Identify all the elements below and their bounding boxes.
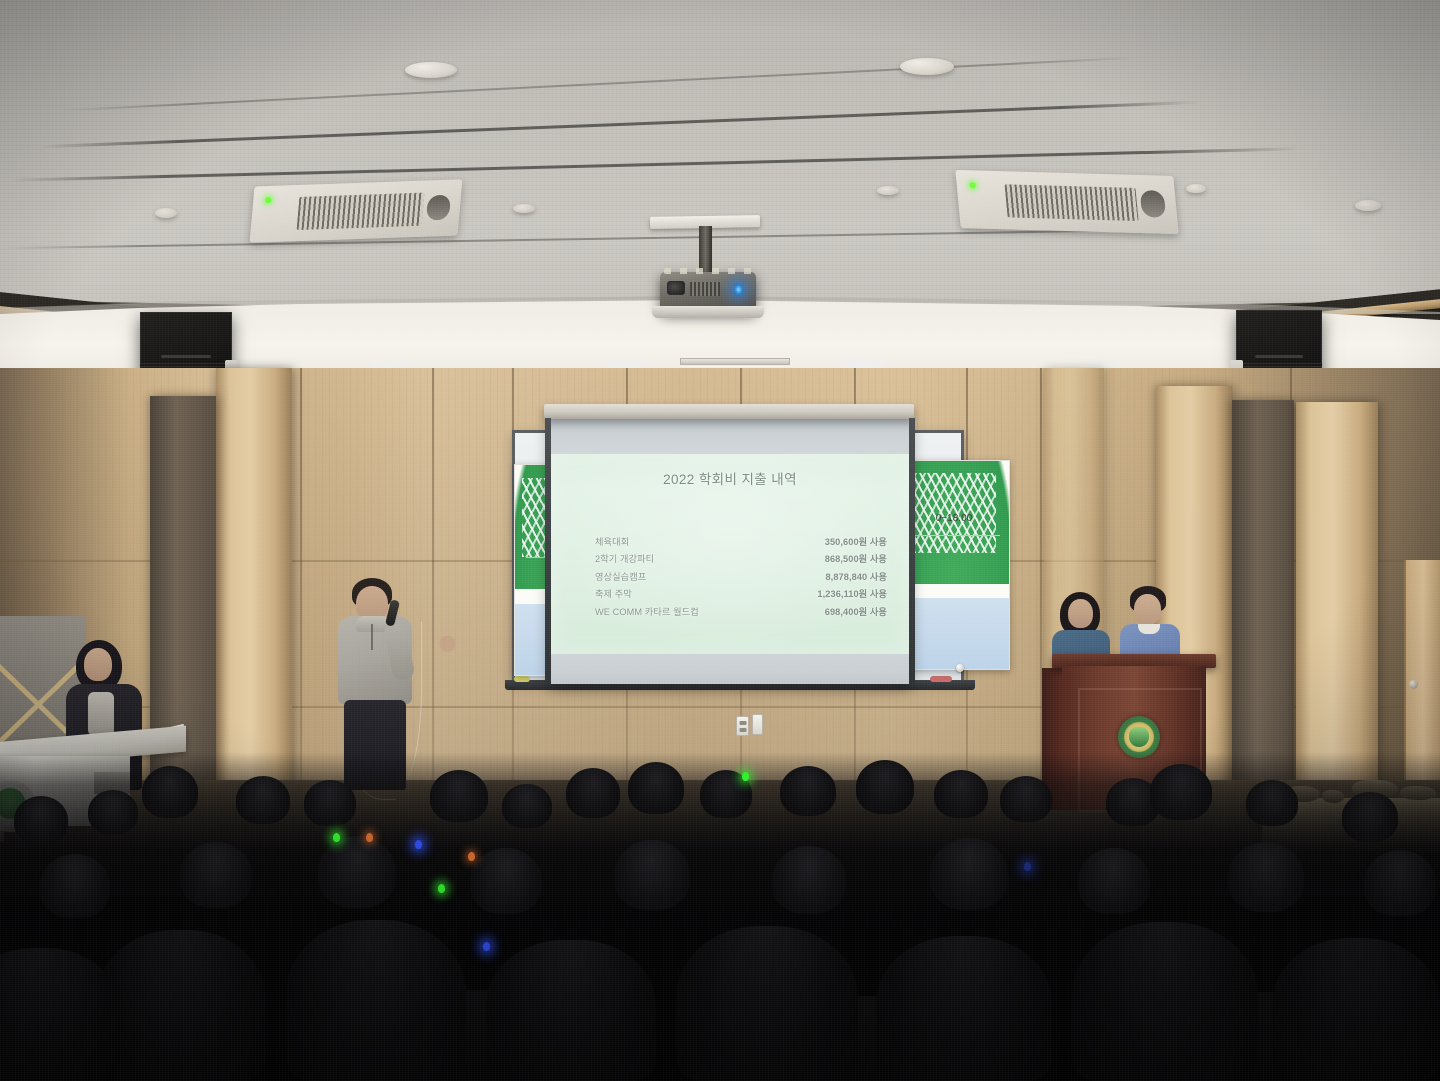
- audience-silhouette: [486, 940, 656, 1081]
- seat-indicator-led: [438, 884, 445, 893]
- smoke-detector-icon: [877, 186, 899, 195]
- ceiling-speaker-icon: [900, 58, 954, 75]
- ceiling-vent-upper: [680, 358, 790, 365]
- slide-row: 체육대회 350,600원 사용: [595, 538, 887, 547]
- seat-indicator-led: [742, 772, 749, 781]
- smoke-detector-icon: [513, 204, 535, 213]
- whiteboard-marker[interactable]: [930, 676, 952, 682]
- ac-vane: [1140, 190, 1166, 217]
- slide-row: 영상실습캠프 8,878,840 사용: [595, 573, 887, 582]
- slide-title: 2022 학회비 지출 내역: [549, 468, 911, 488]
- smoke-detector-icon: [155, 208, 177, 218]
- audience-silhouette: [1272, 938, 1440, 1081]
- presenter-zipper: [371, 624, 373, 650]
- wall-outlet[interactable]: [736, 716, 749, 736]
- projected-slide: 2022 학회비 지출 내역 체육대회 350,600원 사용 2학기 개강파티…: [549, 454, 911, 654]
- projector-vent-icon: [690, 282, 720, 296]
- screen-edge-right: [909, 418, 915, 684]
- outlet-socket-icon: [739, 721, 746, 725]
- expense-label: 영상실습캠프: [595, 573, 646, 582]
- operator-head: [84, 648, 112, 681]
- audience-head: [614, 840, 690, 910]
- poster-footer-band: [899, 598, 1009, 669]
- speaker-cabinet: [1236, 310, 1322, 364]
- audience-head: [772, 846, 846, 914]
- speaker-head: [1134, 594, 1161, 625]
- screen-blank-top: [549, 418, 911, 454]
- audience-head: [40, 854, 110, 918]
- wall-pilaster: [1296, 402, 1378, 808]
- slide-row: 2학기 개강파티 868,500원 사용: [595, 555, 887, 564]
- expense-label: 체육대회: [595, 538, 629, 547]
- audience-head: [780, 766, 836, 816]
- slide-expense-table: 체육대회 350,600원 사용 2학기 개강파티 868,500원 사용 영상…: [595, 538, 887, 625]
- audience-silhouette: [286, 920, 466, 1081]
- audience-head: [14, 796, 68, 844]
- outlet-socket-icon: [739, 728, 746, 732]
- audience-head: [180, 842, 252, 908]
- seat-indicator-led: [468, 852, 475, 861]
- expense-amount: 698,400원 사용: [825, 608, 887, 617]
- audience-head: [856, 760, 914, 814]
- audience-head: [430, 770, 488, 822]
- expense-label: 축제 주막: [595, 590, 632, 599]
- expense-amount: 8,878,840 사용: [825, 573, 887, 582]
- speaker-seam: [161, 355, 211, 358]
- whiteboard-marker[interactable]: [514, 676, 530, 682]
- slide-row: 축제 주막 1,236,110원 사용: [595, 590, 887, 599]
- audience-head: [1364, 850, 1436, 916]
- expense-amount: 350,600원 사용: [825, 538, 887, 547]
- projector-power-led: [734, 284, 743, 295]
- ac-status-led: [265, 197, 272, 203]
- speaker-head: [1068, 599, 1093, 628]
- wall-switch[interactable]: [752, 714, 763, 735]
- screen-blank-bottom: [549, 654, 911, 684]
- poster-time: 0~18:00: [899, 513, 1009, 524]
- slide-row: WE COMM 카타르 월드컵 698,400원 사용: [595, 608, 887, 617]
- ceiling-speaker-icon: [405, 62, 457, 78]
- ac-vane: [426, 194, 451, 221]
- screen-edge-left: [545, 418, 551, 684]
- projector-bracket: [664, 268, 752, 274]
- poster-divider: [908, 535, 1000, 536]
- projector-base: [652, 306, 764, 318]
- audience-head: [142, 766, 198, 818]
- wall-pilaster: [216, 368, 292, 808]
- audience-silhouette: [676, 926, 858, 1081]
- projector-lens-icon: [667, 281, 685, 295]
- audience-head: [502, 784, 552, 828]
- speaker-seam: [1255, 355, 1302, 358]
- audience-head: [318, 836, 396, 908]
- seat-indicator-led: [1024, 862, 1031, 871]
- speaker-cabinet: [140, 312, 232, 364]
- door-knob-icon[interactable]: [1409, 680, 1418, 689]
- audience-silhouette: [1072, 922, 1258, 1081]
- audience-head: [236, 776, 290, 824]
- seat-indicator-led: [366, 833, 373, 842]
- expense-amount: 868,500원 사용: [825, 555, 887, 564]
- audience-head: [930, 838, 1008, 910]
- audience-silhouette: [876, 936, 1052, 1081]
- audience-head: [628, 762, 684, 814]
- ceiling-ac-cassette-left: [250, 179, 463, 242]
- ac-grille-icon: [1004, 184, 1138, 221]
- wall-panel-joint: [432, 368, 434, 808]
- audience-head: [566, 768, 620, 818]
- seat-indicator-led: [415, 840, 422, 849]
- ceiling-ac-cassette-right: [955, 170, 1178, 234]
- expense-label: 2학기 개강파티: [595, 555, 654, 564]
- audience-head: [1342, 792, 1398, 842]
- ceiling-speaker-icon: [1355, 200, 1381, 211]
- audience-head: [1228, 842, 1304, 912]
- audience-head: [934, 770, 988, 818]
- audience-head: [470, 848, 542, 914]
- wall-panel-joint: [300, 368, 302, 808]
- smoke-detector-icon: [1186, 184, 1206, 193]
- audience-head: [1000, 776, 1052, 822]
- audience-head: [88, 790, 138, 834]
- ac-grille-icon: [296, 193, 424, 230]
- audience-head: [304, 780, 356, 826]
- seat-indicator-led: [483, 942, 490, 951]
- wall-pilaster-dark: [1232, 400, 1294, 808]
- screen-pull-knob[interactable]: [956, 664, 964, 672]
- seat-indicator-led: [333, 833, 340, 842]
- expense-label: WE COMM 카타르 월드컵: [595, 608, 699, 617]
- audience-silhouette: [96, 930, 266, 1081]
- audience-head: [1246, 780, 1298, 826]
- screen-housing: [544, 404, 914, 419]
- expense-amount: 1,236,110원 사용: [817, 590, 887, 599]
- projection-screen: 2022 학회비 지출 내역 체육대회 350,600원 사용 2학기 개강파티…: [549, 418, 911, 684]
- auditorium-scene: 20 후 U 0~18:00 2022 학회비 지출 내역 체육대회 350,6…: [0, 0, 1440, 1081]
- ac-status-led: [969, 182, 976, 188]
- audience-head: [1150, 764, 1212, 820]
- audience-head: [1078, 848, 1150, 914]
